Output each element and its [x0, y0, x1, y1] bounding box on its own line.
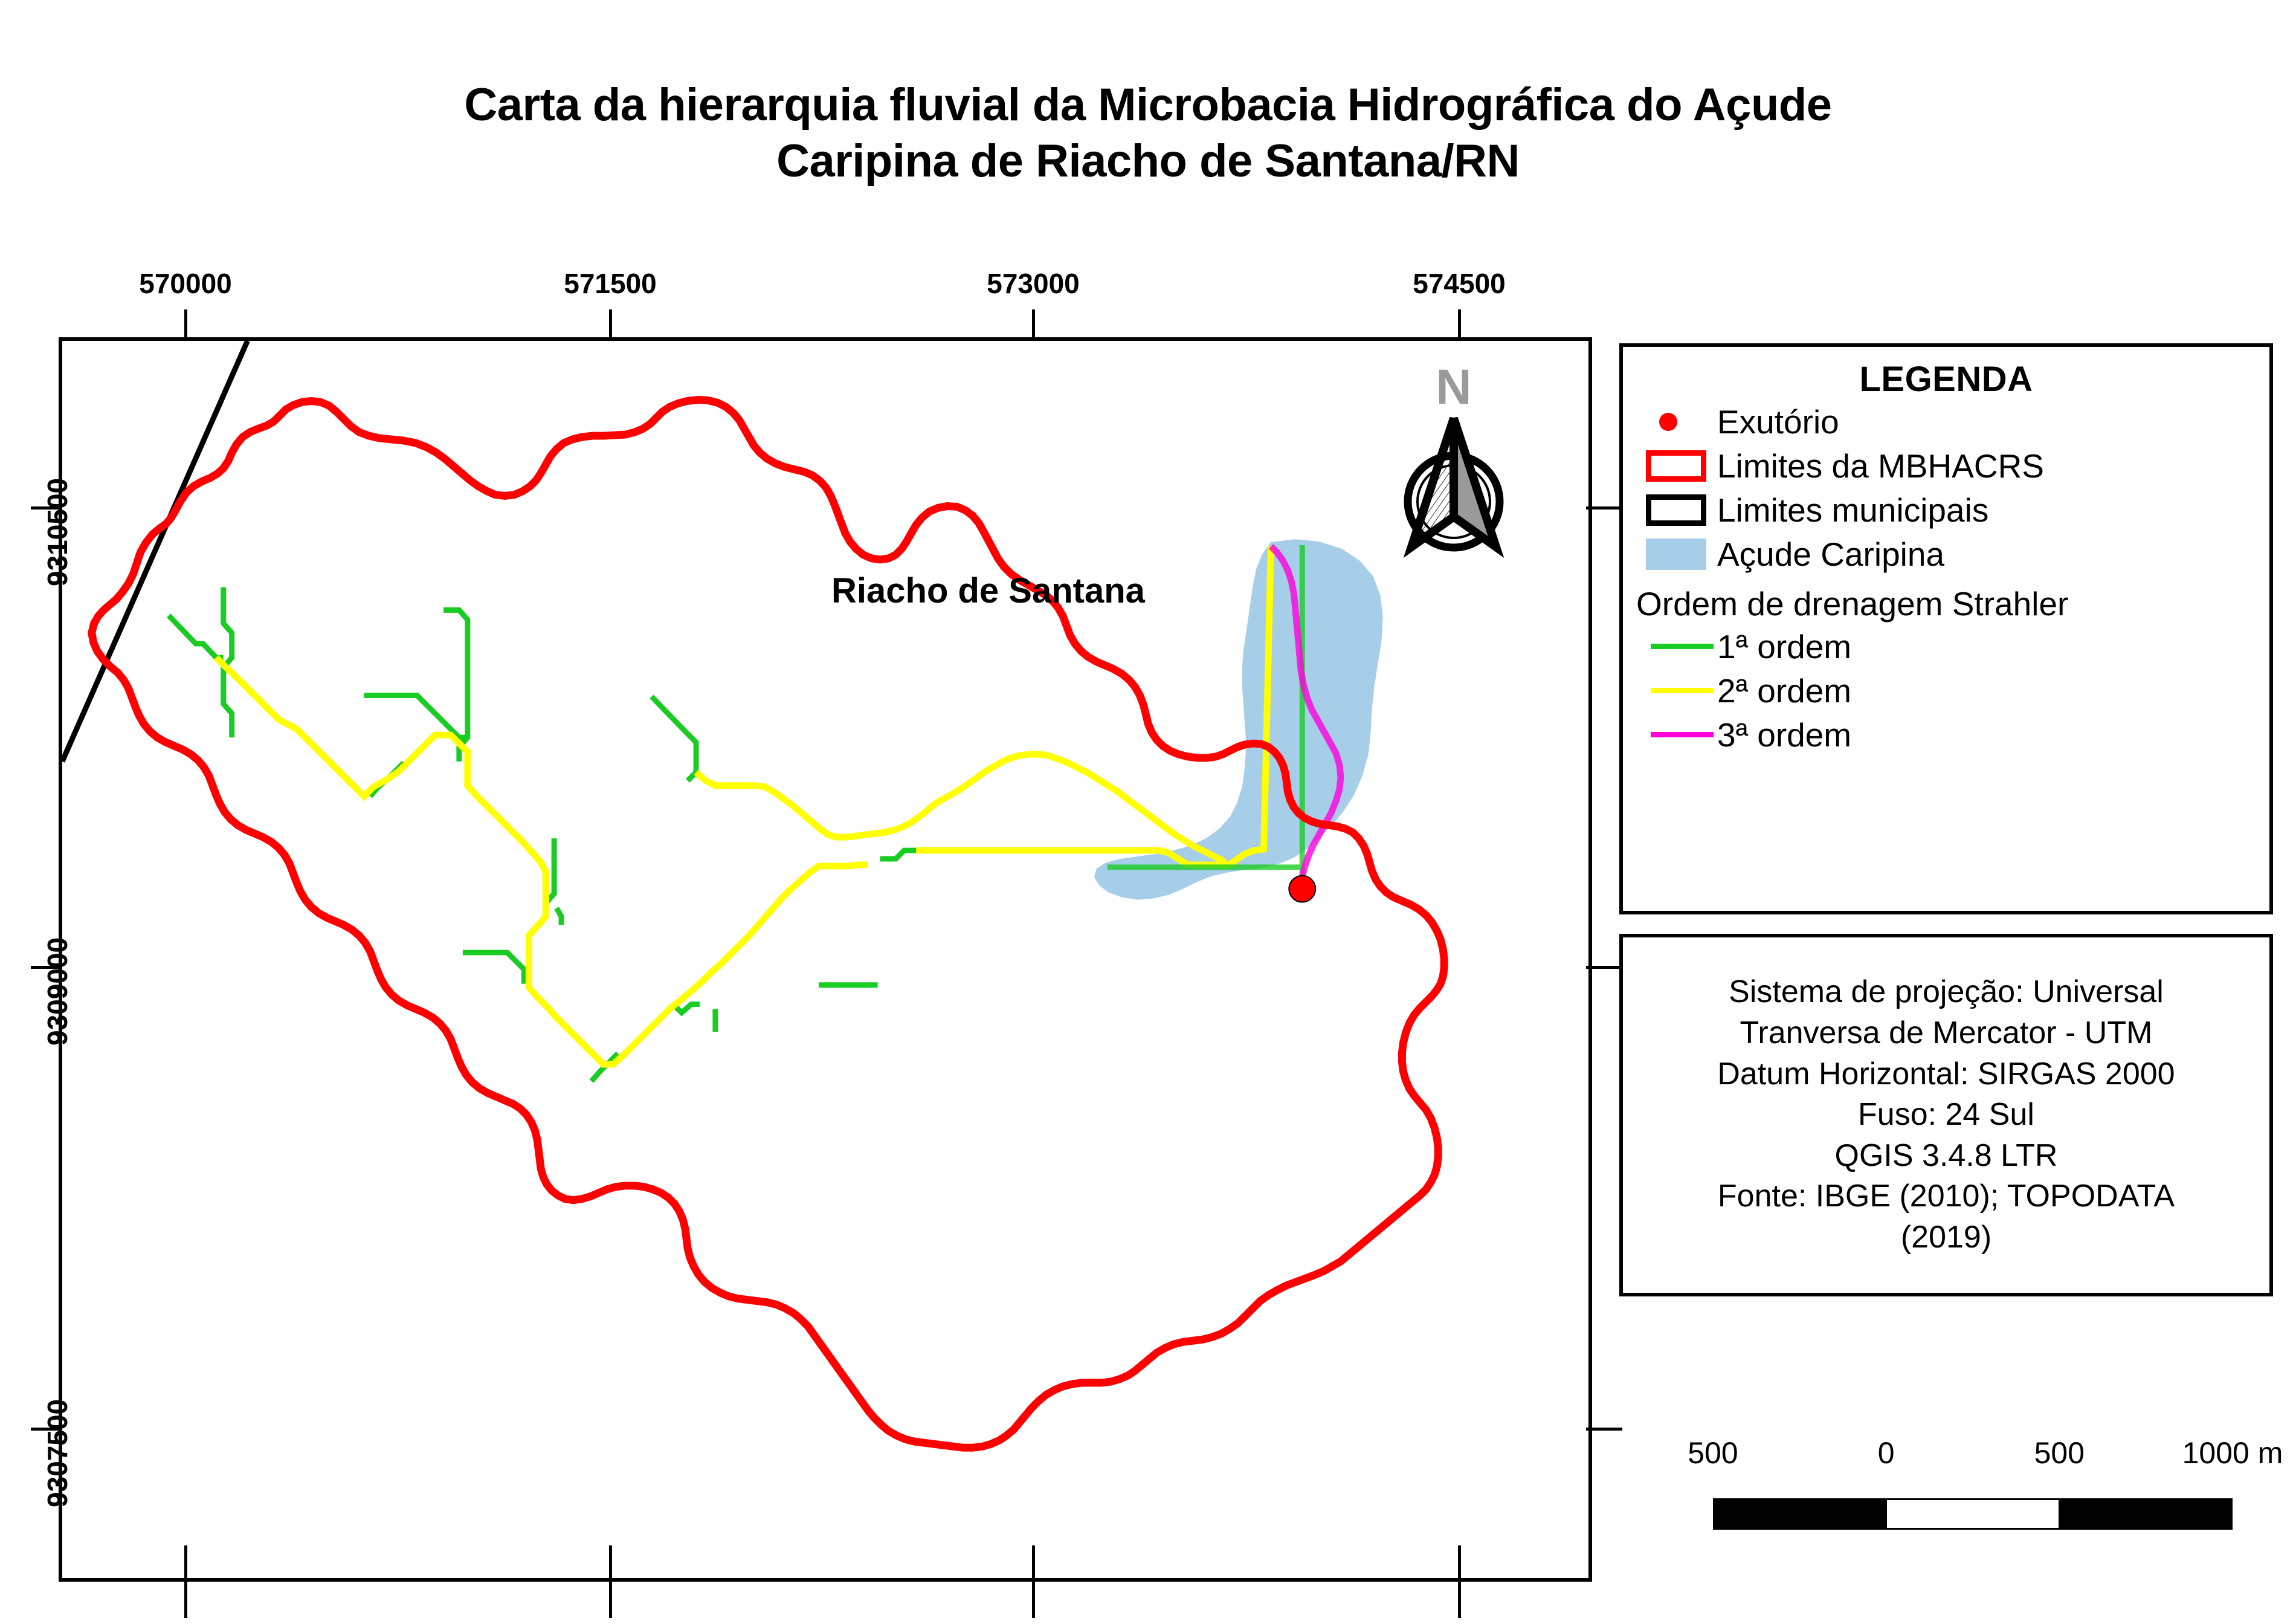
legend-key-line-icon — [1651, 732, 1714, 737]
x-tick-top — [1032, 309, 1035, 340]
map-canvas[interactable] — [62, 341, 1588, 1578]
y-axis-tick-label: 9309000 — [41, 937, 74, 1046]
x-tick-bottom — [609, 1545, 612, 1618]
stream-segment — [216, 658, 868, 1064]
scale-bar-label: 1000 m — [2182, 1435, 2283, 1470]
legend-item-label: Exutório — [1717, 403, 1839, 441]
map-place-label-riacho-de-santana: Riacho de Santana — [831, 571, 1145, 611]
legend-item-label: Limites da MBHACRS — [1717, 447, 2044, 485]
page-title: Carta da hierarquia fluvial da Microbaci… — [0, 77, 2296, 189]
x-axis-tick-label: 573000 — [943, 267, 1124, 300]
scale-bar-labels: 50005001000 m — [1713, 1435, 2233, 1475]
stream-segment — [556, 908, 561, 925]
projection-info-line: QGIS 3.4.8 LTR — [1835, 1136, 2058, 1177]
scale-bar-segment — [1887, 1500, 2059, 1528]
legend-item[interactable]: Açude Caripina — [1623, 532, 2269, 576]
projection-info-line: (2019) — [1901, 1217, 1991, 1258]
legend-item[interactable]: Limites municipais — [1623, 488, 2269, 532]
scale-bar-segments — [1713, 1498, 2233, 1530]
municipal-boundary-line — [62, 341, 248, 762]
y-tick-right — [1586, 966, 1622, 969]
projection-info-line: Datum Horizontal: SIRGAS 2000 — [1717, 1054, 2175, 1095]
stream-segment — [880, 850, 917, 859]
stream-segment — [169, 615, 224, 658]
projection-info-line: Tranversa de Mercator - UTM — [1740, 1013, 2153, 1054]
basin-boundary-mbhacrs — [92, 400, 1444, 1448]
legend-item[interactable]: Limites da MBHACRS — [1623, 444, 2269, 488]
legend-item-label: 1ª ordem — [1717, 627, 1851, 666]
map-frame[interactable] — [59, 337, 1592, 1582]
legend-key-fill-icon — [1646, 539, 1706, 570]
y-tick-right — [1586, 506, 1622, 510]
stream-segment — [364, 696, 466, 738]
x-axis-tick-label: 571500 — [520, 267, 701, 300]
stream-segment — [651, 697, 696, 781]
scale-bar-label: 0 — [1878, 1435, 1895, 1470]
title-line-2: Caripina de Riacho de Santana/RN — [0, 134, 2296, 190]
legend-title: LEGENDA — [1623, 359, 2269, 400]
projection-info-line: Sistema de projeção: Universal — [1729, 972, 2164, 1013]
title-line-1: Carta da hierarquia fluvial da Microbaci… — [0, 77, 2296, 134]
legend-item-label: 2ª ordem — [1717, 671, 1851, 710]
x-tick-bottom — [184, 1545, 187, 1618]
scale-bar: 50005001000 m — [1713, 1435, 2233, 1530]
y-axis-tick-label: 9307500 — [41, 1399, 74, 1507]
scale-bar-label: 500 — [2034, 1435, 2085, 1470]
y-axis-tick-label: 9310500 — [41, 478, 74, 586]
projection-info-line: Fonte: IBGE (2010); TOPODATA — [1718, 1176, 2175, 1217]
legend-order-list: 1ª ordem2ª ordem3ª ordem — [1623, 624, 2269, 757]
legend-key-line-icon — [1651, 644, 1714, 649]
x-tick-bottom — [1032, 1545, 1035, 1618]
legend-key-outline-icon — [1646, 450, 1706, 482]
scale-bar-segment — [2059, 1500, 2231, 1528]
x-tick-top — [609, 309, 612, 340]
legend-item-label: 3ª ordem — [1717, 716, 1851, 754]
legend-items-list: ExutórioLimites da MBHACRSLimites munici… — [1623, 400, 2269, 576]
north-letter: N — [1393, 363, 1514, 412]
legend-key-outline-icon — [1646, 494, 1706, 526]
legend-order-item[interactable]: 3ª ordem — [1623, 713, 2269, 757]
legend-panel: LEGENDA ExutórioLimites da MBHACRSLimite… — [1619, 343, 2273, 914]
x-axis-tick-label: 574500 — [1369, 267, 1550, 300]
streams-order-1 — [169, 587, 916, 1081]
scale-bar-segment — [1715, 1500, 1887, 1528]
legend-order-item[interactable]: 1ª ordem — [1623, 624, 2269, 668]
legend-subheading-strahler: Ordem de drenagem Strahler — [1623, 584, 2269, 623]
projection-info-panel: Sistema de projeção: UniversalTranversa … — [1619, 934, 2273, 1296]
north-arrow: N — [1393, 363, 1514, 568]
legend-item-label: Açude Caripina — [1717, 535, 1944, 574]
y-tick-right — [1586, 1428, 1622, 1431]
legend-item-label: Limites municipais — [1717, 491, 1988, 529]
legend-order-item[interactable]: 2ª ordem — [1623, 668, 2269, 713]
streams-order-2 — [216, 546, 1271, 1064]
outlet-point-exutorio[interactable] — [1289, 876, 1315, 902]
scale-bar-label: 500 — [1688, 1435, 1738, 1470]
legend-key-line-icon — [1651, 688, 1714, 693]
legend-key-point-icon — [1659, 413, 1677, 431]
legend-item[interactable]: Exutório — [1623, 400, 2269, 444]
stream-segment — [463, 953, 524, 984]
projection-info-line: Fuso: 24 Sul — [1858, 1095, 2034, 1136]
x-tick-bottom — [1458, 1545, 1461, 1618]
x-tick-top — [184, 309, 187, 340]
x-axis-tick-label: 570000 — [95, 267, 276, 300]
x-tick-top — [1458, 309, 1461, 340]
